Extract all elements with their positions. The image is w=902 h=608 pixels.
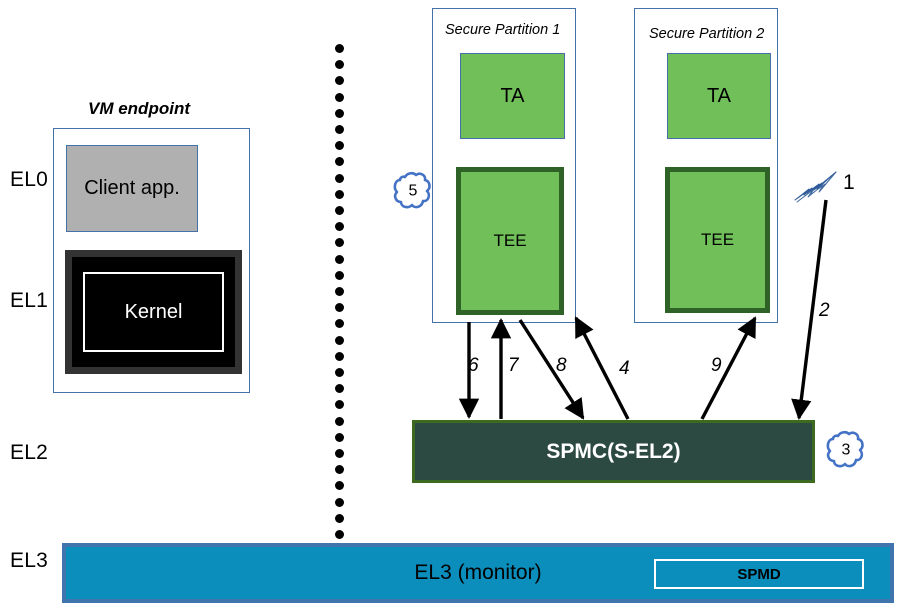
callout-cloud-5: 5	[391, 170, 435, 214]
callout-cloud-3: 3	[824, 429, 868, 473]
flow-arrow-9	[702, 318, 755, 419]
architecture-diagram: EL0 EL1 EL2 EL3 VM endpoint Client app. …	[0, 0, 902, 608]
flow-label-4: 4	[619, 358, 630, 380]
flow-label-2: 2	[819, 300, 830, 322]
flow-label-1: 1	[843, 171, 855, 195]
lightning-bolt-icon	[792, 168, 842, 208]
callout-cloud-5-number: 5	[391, 183, 435, 201]
flow-arrows-layer	[0, 0, 902, 608]
flow-label-8: 8	[556, 355, 567, 377]
flow-arrow-8	[520, 320, 583, 418]
flow-label-6: 6	[468, 355, 479, 377]
flow-label-9: 9	[711, 355, 722, 377]
flow-label-7: 7	[508, 355, 519, 377]
callout-cloud-3-number: 3	[824, 442, 868, 460]
